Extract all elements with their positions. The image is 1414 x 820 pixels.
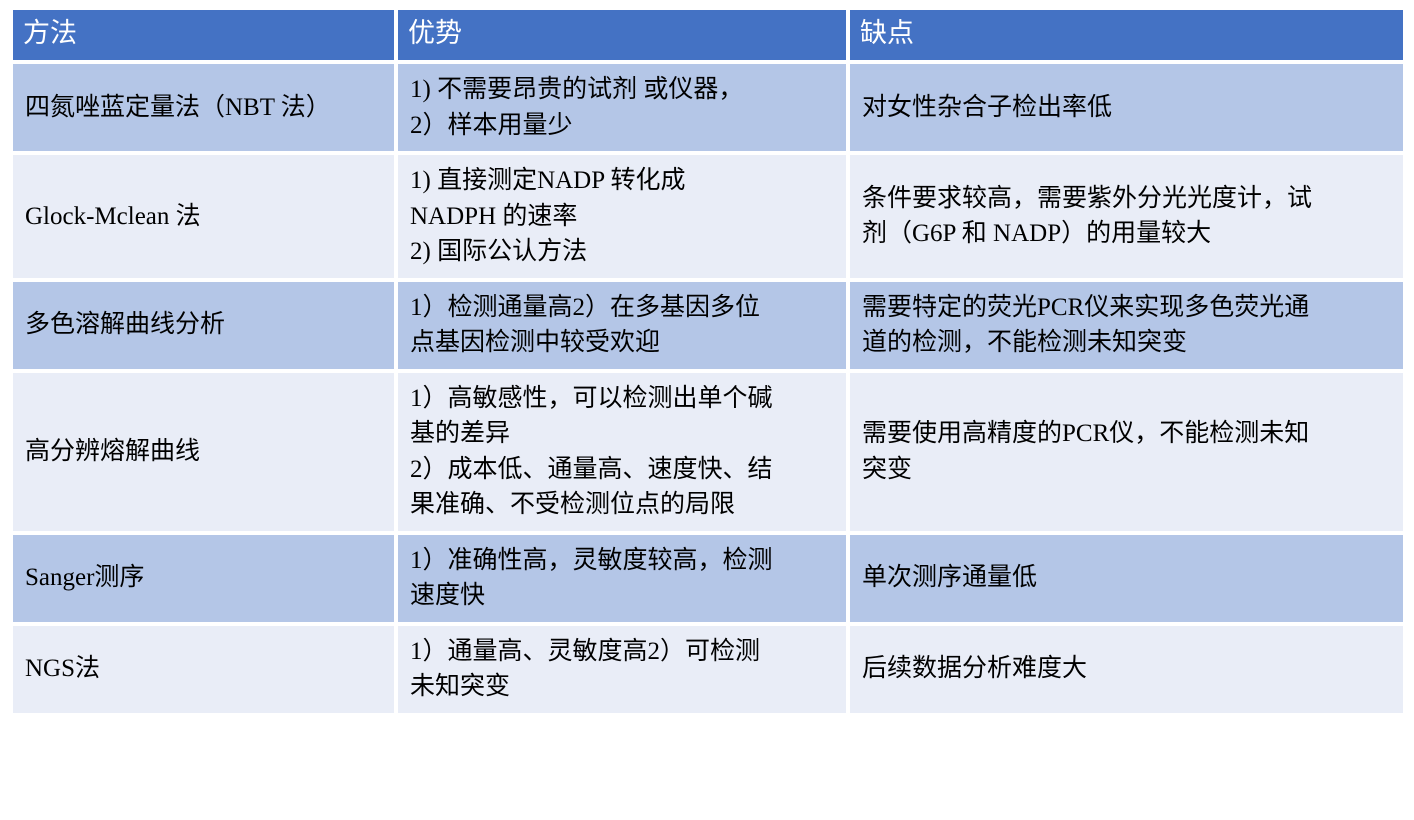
cell-advantages: 1）检测通量高2）在多基因多位点基因检测中较受欢迎	[398, 282, 846, 369]
cell-line: 单次测序通量低	[862, 560, 1391, 596]
cell-line: 1）准确性高，灵敏度较高，检测	[410, 543, 834, 579]
column-header-disadvantages: 缺点	[850, 10, 1403, 60]
cell-line: 1) 直接测定NADP 转化成	[410, 163, 834, 199]
cell-method: Sanger测序	[13, 535, 394, 622]
cell-method: Glock-Mclean 法	[13, 155, 394, 278]
cell-line: NADPH 的速率	[410, 199, 834, 235]
cell-line: 2）样本用量少	[410, 108, 834, 144]
table-row: 高分辨熔解曲线1）高敏感性，可以检测出单个碱基的差异2）成本低、通量高、速度快、…	[13, 373, 1403, 531]
cell-line: 对女性杂合子检出率低	[862, 90, 1391, 126]
cell-disadvantages: 条件要求较高，需要紫外分光光度计，试剂（G6P 和 NADP）的用量较大	[850, 155, 1403, 278]
cell-line: 条件要求较高，需要紫外分光光度计，试	[862, 181, 1391, 217]
column-header-advantages: 优势	[398, 10, 846, 60]
cell-line: 果准确、不受检测位点的局限	[410, 487, 834, 523]
table-row: 多色溶解曲线分析1）检测通量高2）在多基因多位点基因检测中较受欢迎需要特定的荧光…	[13, 282, 1403, 369]
cell-line: 道的检测，不能检测未知突变	[862, 325, 1391, 361]
header-row: 方法 优势 缺点	[13, 10, 1403, 60]
cell-line: 1) 不需要昂贵的试剂 或仪器，	[410, 72, 834, 108]
cell-disadvantages: 需要特定的荧光PCR仪来实现多色荧光通道的检测，不能检测未知突变	[850, 282, 1403, 369]
table-row: 四氮唑蓝定量法（NBT 法）1) 不需要昂贵的试剂 或仪器，2）样本用量少对女性…	[13, 64, 1403, 151]
cell-line: 1）检测通量高2）在多基因多位	[410, 290, 834, 326]
cell-method: 四氮唑蓝定量法（NBT 法）	[13, 64, 394, 151]
cell-line: 剂（G6P 和 NADP）的用量较大	[862, 216, 1391, 252]
cell-line: 2）成本低、通量高、速度快、结	[410, 452, 834, 488]
cell-advantages: 1) 不需要昂贵的试剂 或仪器，2）样本用量少	[398, 64, 846, 151]
cell-method: 高分辨熔解曲线	[13, 373, 394, 531]
cell-line: 突变	[862, 452, 1391, 488]
cell-advantages: 1) 直接测定NADP 转化成NADPH 的速率2) 国际公认方法	[398, 155, 846, 278]
cell-line: 需要特定的荧光PCR仪来实现多色荧光通	[862, 290, 1391, 326]
cell-method: 多色溶解曲线分析	[13, 282, 394, 369]
cell-line: 速度快	[410, 578, 834, 614]
table-row: Glock-Mclean 法1) 直接测定NADP 转化成NADPH 的速率2)…	[13, 155, 1403, 278]
cell-advantages: 1）准确性高，灵敏度较高，检测速度快	[398, 535, 846, 622]
cell-disadvantages: 对女性杂合子检出率低	[850, 64, 1403, 151]
cell-advantages: 1）高敏感性，可以检测出单个碱基的差异2）成本低、通量高、速度快、结果准确、不受…	[398, 373, 846, 531]
cell-disadvantages: 后续数据分析难度大	[850, 626, 1403, 713]
cell-line: 1）高敏感性，可以检测出单个碱	[410, 381, 834, 417]
cell-line: 点基因检测中较受欢迎	[410, 325, 834, 361]
cell-line: 基的差异	[410, 416, 834, 452]
cell-disadvantages: 单次测序通量低	[850, 535, 1403, 622]
cell-line: 2) 国际公认方法	[410, 234, 834, 270]
cell-advantages: 1）通量高、灵敏度高2）可检测未知突变	[398, 626, 846, 713]
table-body: 四氮唑蓝定量法（NBT 法）1) 不需要昂贵的试剂 或仪器，2）样本用量少对女性…	[13, 64, 1403, 713]
cell-line: 需要使用高精度的PCR仪，不能检测未知	[862, 416, 1391, 452]
cell-disadvantages: 需要使用高精度的PCR仪，不能检测未知突变	[850, 373, 1403, 531]
comparison-table-container: 方法 优势 缺点 四氮唑蓝定量法（NBT 法）1) 不需要昂贵的试剂 或仪器，2…	[13, 10, 1395, 713]
cell-line: 1）通量高、灵敏度高2）可检测	[410, 634, 834, 670]
cell-line: 后续数据分析难度大	[862, 651, 1391, 687]
g6pd-method-comparison-table: 方法 优势 缺点 四氮唑蓝定量法（NBT 法）1) 不需要昂贵的试剂 或仪器，2…	[9, 6, 1407, 717]
table-row: Sanger测序1）准确性高，灵敏度较高，检测速度快单次测序通量低	[13, 535, 1403, 622]
cell-line: 未知突变	[410, 669, 834, 705]
table-row: NGS法1）通量高、灵敏度高2）可检测未知突变后续数据分析难度大	[13, 626, 1403, 713]
column-header-method: 方法	[13, 10, 394, 60]
table-header: 方法 优势 缺点	[13, 10, 1403, 60]
cell-method: NGS法	[13, 626, 394, 713]
